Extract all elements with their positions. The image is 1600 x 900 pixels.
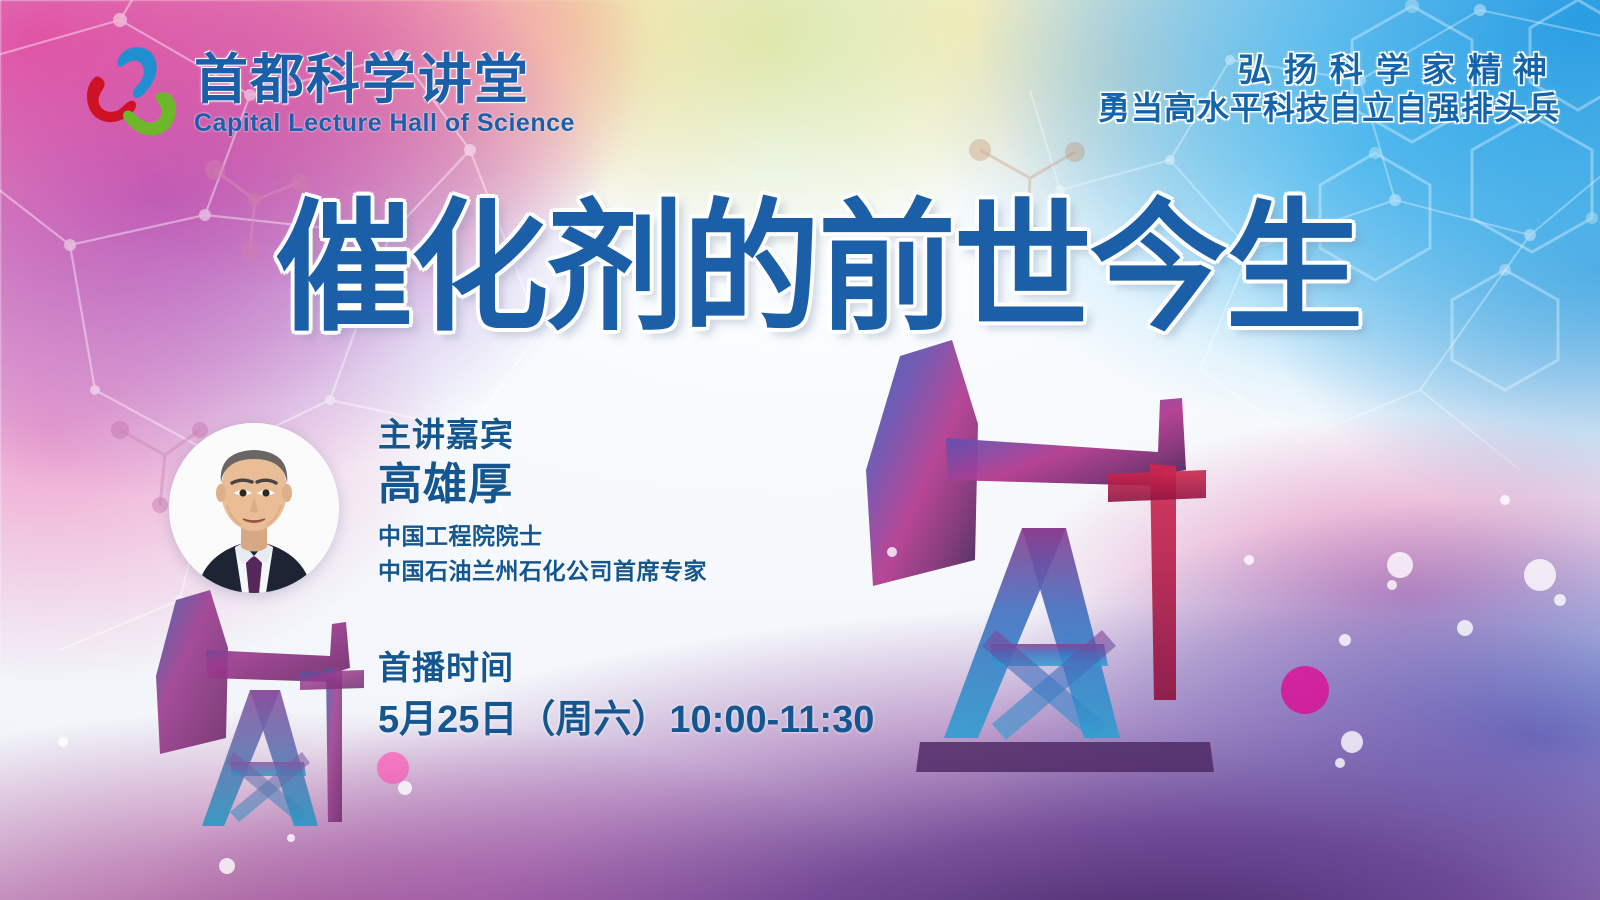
slogan-line-2: 勇当高水平科技自立自强排头兵 (1098, 91, 1560, 127)
brand-logo[interactable]: 首都科学讲堂 Capital Lecture Hall of Science (78, 42, 575, 146)
speaker-label: 主讲嘉宾 (378, 416, 707, 455)
poster-canvas: 首都科学讲堂 Capital Lecture Hall of Science 弘… (0, 0, 1600, 900)
brand-logo-text: 首都科学讲堂 Capital Lecture Hall of Science (194, 53, 575, 136)
speaker-credential-line: 中国工程院院士 (378, 519, 707, 554)
airtime-label: 首播时间 (378, 648, 874, 688)
airtime-value: 5月25日（周六）10:00-11:30 (378, 698, 874, 744)
speaker-credentials: 中国工程院院士 中国石油兰州石化公司首席专家 (378, 519, 707, 589)
portrait-photo (169, 423, 339, 593)
airtime-block: 首播时间 5月25日（周六）10:00-11:30 (378, 648, 874, 743)
brand-name-cn: 首都科学讲堂 (194, 53, 575, 107)
speaker-name: 高雄厚 (378, 459, 707, 512)
slogan-line-1: 弘扬科学家精神 (1098, 52, 1560, 89)
triskelion-swirl-logo (78, 42, 186, 146)
page-title: 催化剂的前世今生 (275, 198, 1361, 340)
brand-name-en: Capital Lecture Hall of Science (194, 111, 575, 136)
slogan-block: 弘扬科学家精神 勇当高水平科技自立自强排头兵 (1098, 52, 1560, 127)
speaker-block: 主讲嘉宾 高雄厚 中国工程院院士 中国石油兰州石化公司首席专家 (378, 416, 707, 589)
speaker-avatar (169, 423, 339, 593)
speaker-credential-line: 中国石油兰州石化公司首席专家 (378, 554, 707, 589)
